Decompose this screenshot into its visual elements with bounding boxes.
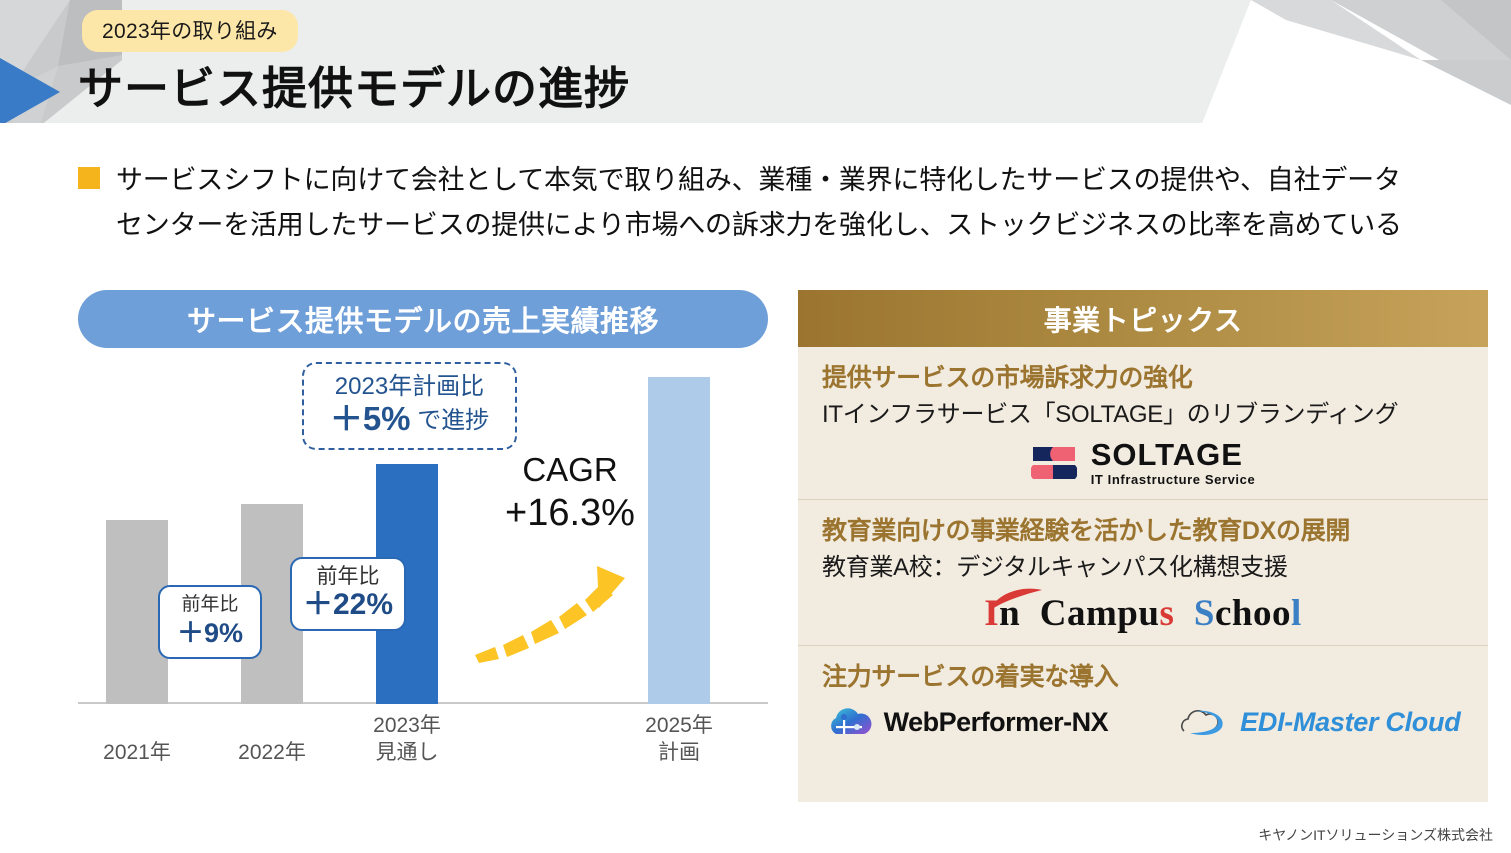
webperformer-name: WebPerformer-NX [884, 707, 1109, 737]
lead-paragraph: サービスシフトに向けて会社として本気で取り組み、業種・業界に特化したサービスの提… [78, 158, 1468, 248]
yoy-label-1: 前年比 [160, 593, 260, 617]
topic-1-subtitle: ITインフラサービス「SOLTAGE」のリブランディング [822, 397, 1464, 433]
in-campus-letter-S: S [1184, 593, 1215, 634]
soltage-name: SOLTAGE [1091, 439, 1256, 471]
in-campus-school-logo: In Campus School [984, 592, 1301, 635]
webperformer-cloud-icon [826, 704, 872, 740]
yoy-callout-2022: 前年比 ＋22% [290, 557, 406, 631]
in-campus-letter-l: l [1291, 593, 1302, 634]
topic-2-title: 教育業向けの事業経験を活かした教育DXの展開 [822, 514, 1464, 548]
topic-item-2: 教育業向けの事業経験を活かした教育DXの展開 教育業A校：デジタルキャンパス化構… [798, 499, 1488, 645]
header-tag-badge: 2023年の取り組み [82, 10, 298, 52]
right-polygon-graphic [1191, 0, 1511, 126]
cagr-label: CAGR [470, 450, 670, 490]
lead-text: サービスシフトに向けて会社として本気で取り組み、業種・業界に特化したサービスの提… [116, 158, 1402, 248]
yoy-value-2: ＋22% [292, 589, 404, 621]
topic-3-logos: WebPerformer-NX EDI-Master Cloud [822, 704, 1464, 740]
slide-root: 2023年の取り組み サービス提供モデルの進捗 サービスシフトに向けて会社として… [0, 0, 1511, 853]
bullet-square-icon [78, 167, 100, 189]
cagr-value: +16.3% [470, 490, 670, 536]
plan-callout-value: ＋5% [330, 400, 411, 437]
edi-master-cloud-icon [1180, 705, 1230, 739]
xtick-2022: 2022年 [197, 739, 347, 766]
footer-company-name: キヤノンITソリューションズ株式会社 [1258, 825, 1493, 845]
slide-header: 2023年の取り組み サービス提供モデルの進捗 [0, 0, 1511, 126]
xtick-2025: 2025年 計画 [604, 712, 754, 766]
lead-line-2: センターを活用したサービスの提供により市場への訴求力を強化し、ストックビジネスの… [116, 203, 1402, 248]
webperformer-wordmark: WebPerformer-NX [884, 707, 1109, 738]
soltage-mark-icon [1031, 443, 1077, 485]
in-campus-letter-s: s [1159, 593, 1174, 634]
cagr-annotation: CAGR +16.3% [470, 450, 670, 536]
plan-callout-line1: 2023年計画比 [310, 372, 509, 402]
in-campus-text-campu: Campu [1030, 593, 1159, 634]
soltage-logo: SOLTAGE IT Infrastructure Service [1031, 439, 1256, 489]
soltage-wordmark: SOLTAGE IT Infrastructure Service [1091, 439, 1256, 489]
xtick-2021: 2021年 [62, 739, 212, 766]
topic-1-title: 提供サービスの市場訴求力の強化 [822, 361, 1464, 395]
page-title: サービス提供モデルの進捗 [78, 52, 630, 117]
growth-arrow-icon [473, 562, 653, 672]
in-campus-swoosh-icon [988, 588, 1044, 610]
topic-1-logos: SOLTAGE IT Infrastructure Service [822, 439, 1464, 489]
yoy-label-2: 前年比 [292, 565, 404, 589]
plan-callout-suffix: で進捗 [417, 407, 489, 434]
plan-callout-line2: ＋5% で進捗 [310, 402, 509, 438]
topic-2-subtitle: 教育業A校：デジタルキャンパス化構想支援 [822, 550, 1464, 586]
topic-item-1: 提供サービスの市場訴求力の強化 ITインフラサービス「SOLTAGE」のリブラン… [798, 347, 1488, 499]
edi-master-wordmark: EDI-Master Cloud [1240, 707, 1460, 738]
in-campus-text-choo: choo [1215, 593, 1291, 634]
topics-header: 事業トピックス [798, 290, 1488, 347]
webperformer-logo: WebPerformer-NX [826, 704, 1109, 740]
topics-panel: 事業トピックス 提供サービスの市場訴求力の強化 ITインフラサービス「SOLTA… [798, 290, 1488, 802]
soltage-tagline: IT Infrastructure Service [1091, 471, 1256, 489]
header-divider [0, 123, 1511, 126]
topic-3-title: 注力サービスの着実な導入 [822, 660, 1464, 694]
xtick-2023: 2023年 見通し [332, 712, 482, 766]
lead-line-1: サービスシフトに向けて会社として本気で取り組み、業種・業界に特化したサービスの提… [116, 158, 1402, 203]
plan-progress-callout: 2023年計画比 ＋5% で進捗 [302, 362, 517, 450]
yoy-callout-2021: 前年比 ＋9% [158, 585, 262, 659]
edi-master-cloud-logo: EDI-Master Cloud [1180, 705, 1460, 739]
topic-item-3: 注力サービスの着実な導入 [798, 645, 1488, 750]
chart-title: サービス提供モデルの売上実績推移 [78, 290, 768, 348]
yoy-value-1: ＋9% [160, 617, 260, 649]
blue-arrow-icon [0, 58, 60, 126]
header-right-decoration [1191, 0, 1511, 126]
bar-2025 [648, 377, 710, 704]
bar-chart-plot: 2021年 2022年 2023年 見通し 2025年 計画 2023年計画比 … [78, 372, 768, 772]
topic-2-logos: In Campus School [822, 592, 1464, 635]
chart-panel: サービス提供モデルの売上実績推移 2021年 2022年 2023年 見通し 2… [78, 290, 768, 800]
